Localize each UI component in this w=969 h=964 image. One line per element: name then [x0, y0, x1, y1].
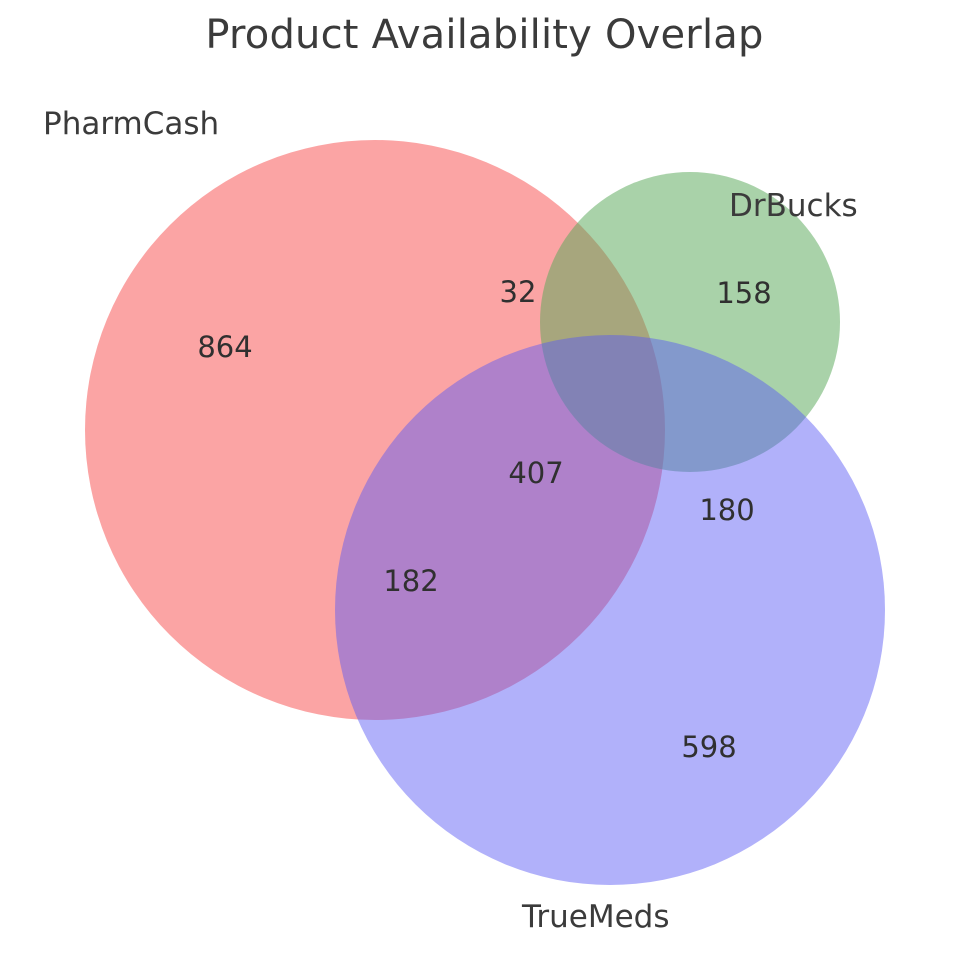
- venn-count-pharmcash-drbucks: 32: [500, 275, 537, 309]
- venn-set-label-pharmcash: PharmCash: [43, 106, 219, 142]
- venn-count-drbucks-truemeds: 180: [699, 493, 754, 527]
- venn-count-pharmcash-truemeds: 182: [383, 564, 438, 598]
- venn-count-truemeds-only: 598: [681, 730, 736, 764]
- venn-set-label-drbucks: DrBucks: [729, 188, 858, 224]
- venn-count-drbucks-only: 158: [716, 276, 771, 310]
- venn-count-pharmcash-only: 864: [197, 330, 252, 364]
- venn-set-label-truemeds: TrueMeds: [522, 899, 670, 935]
- venn-circle-truemeds: [335, 335, 885, 885]
- venn-circles: [0, 0, 969, 964]
- venn-diagram-figure: Product Availability Overlap PharmCash D…: [0, 0, 969, 964]
- venn-count-all-three: 407: [508, 456, 563, 490]
